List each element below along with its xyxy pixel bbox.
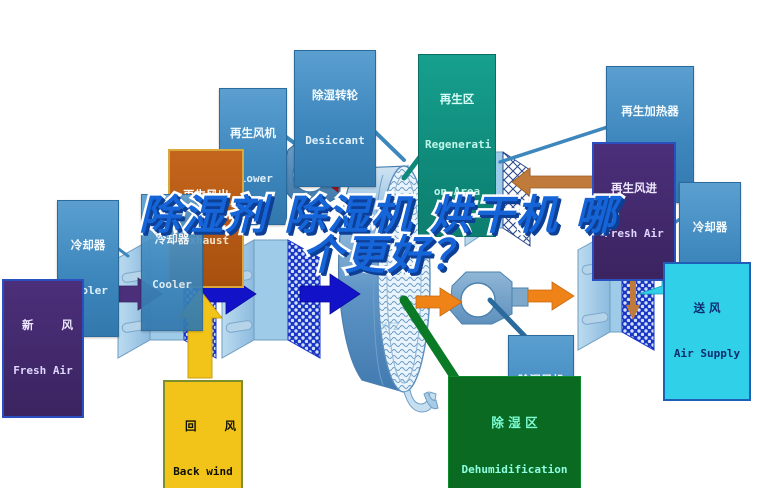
air-supply-label: 送 风 Air Supply — [663, 262, 751, 401]
regeneration-fresh-air-label-cn: 再生风进 — [600, 182, 668, 194]
regeneration-blower-label-cn: 再生风机 — [226, 127, 280, 139]
regeneration-fresh-air-label-en: Fresh Air — [600, 228, 668, 240]
cooler-label-left-upper-en: Cooler — [148, 279, 196, 291]
regeneration-area-label: 再生区 Regenerati on Area — [418, 54, 496, 237]
svg-text:xrz: xrz — [380, 319, 400, 334]
back-wind-label: 回 风 Back wind — [163, 380, 243, 488]
cooler-label-left-upper-cn: 冷却器 — [148, 233, 196, 245]
fresh-air-inlet-label-en: Fresh Air — [10, 365, 76, 377]
air-supply-label-en: Air Supply — [672, 348, 742, 360]
dehumidification-district-label-en: Dehumidification — [458, 464, 571, 476]
dehumidification-district-label: 除 湿 区 Dehumidification District — [448, 376, 581, 488]
dehumidification-district-label-cn: 除 湿 区 — [458, 416, 571, 430]
cooler-label-right-cn: 冷却器 — [686, 221, 734, 233]
dehumidified-air-arrow-2 — [528, 282, 574, 310]
regeneration-area-label-en: Regenerati — [425, 139, 489, 151]
condensate-drain — [404, 390, 438, 412]
dehumidifier-process-diagram: xrz — [0, 0, 757, 488]
back-wind-label-en: Back wind — [173, 466, 233, 478]
fresh-air-inlet-label-cn: 新 风 — [10, 319, 76, 331]
desiccant-wheel-label-cn: 除湿转轮 — [301, 89, 369, 101]
regeneration-heater-label-cn: 再生加热器 — [613, 105, 687, 117]
desiccant-wheel-label: 除湿转轮 Desiccant — [294, 50, 376, 187]
regeneration-area-label-en2: on Area — [425, 186, 489, 198]
fresh-air-inlet-label: 新 风 Fresh Air — [2, 279, 84, 418]
regeneration-area-label-cn: 再生区 — [425, 93, 489, 105]
regeneration-fresh-air-label: 再生风进 Fresh Air — [592, 142, 676, 281]
desiccant-wheel-label-en: Desiccant — [301, 135, 369, 147]
air-supply-label-cn: 送 风 — [672, 302, 742, 314]
cooler-label-left-upper: 冷却器 Cooler — [141, 194, 203, 331]
cooler-label-left-lower-cn: 冷却器 — [64, 239, 112, 251]
back-wind-label-cn: 回 风 — [173, 420, 233, 432]
